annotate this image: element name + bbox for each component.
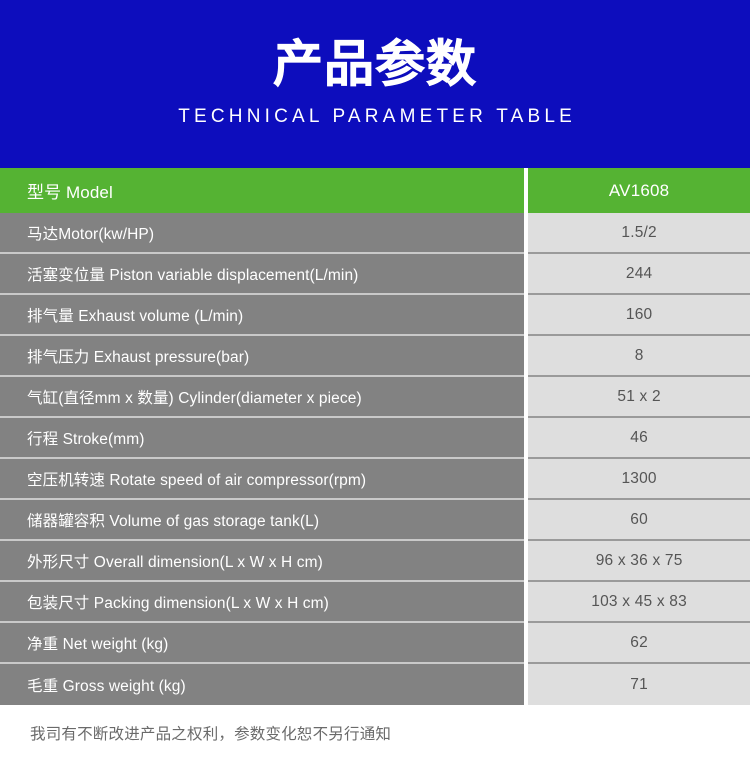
- specification-table: 型号 Model AV1608 马达Motor(kw/HP)1.5/2活塞变位量…: [0, 168, 750, 705]
- table-row: 储器罐容积 Volume of gas storage tank(L)60: [0, 500, 750, 541]
- table-row: 排气压力 Exhaust pressure(bar)8: [0, 336, 750, 377]
- table-cell-label: 排气量 Exhaust volume (L/min): [0, 295, 524, 336]
- table-cell-value: 71: [528, 664, 750, 705]
- table-row: 包装尺寸 Packing dimension(L x W x H cm)103 …: [0, 582, 750, 623]
- table-cell-label: 外形尺寸 Overall dimension(L x W x H cm): [0, 541, 524, 582]
- table-cell-value: 244: [528, 254, 750, 295]
- table-cell-label: 净重 Net weight (kg): [0, 623, 524, 664]
- table-cell-label: 马达Motor(kw/HP): [0, 213, 524, 254]
- footer-note: 我司有不断改进产品之权利，参数变化恕不另行通知: [0, 724, 750, 746]
- table-cell-label: 包装尺寸 Packing dimension(L x W x H cm): [0, 582, 524, 623]
- table-cell-value: 1300: [528, 459, 750, 500]
- table-row: 活塞变位量 Piston variable displacement(L/min…: [0, 254, 750, 295]
- table-row: 毛重 Gross weight (kg)71: [0, 664, 750, 705]
- table-row: 排气量 Exhaust volume (L/min)160: [0, 295, 750, 336]
- table-cell-value: 160: [528, 295, 750, 336]
- table-row: 行程 Stroke(mm)46: [0, 418, 750, 459]
- table-header-label: 型号 Model: [0, 168, 524, 213]
- page-title: 产品参数: [0, 36, 750, 92]
- table-cell-value: 103 x 45 x 83: [528, 582, 750, 623]
- table-cell-value: 96 x 36 x 75: [528, 541, 750, 582]
- table-cell-value: 8: [528, 336, 750, 377]
- table-row: 外形尺寸 Overall dimension(L x W x H cm)96 x…: [0, 541, 750, 582]
- table-cell-value: 51 x 2: [528, 377, 750, 418]
- table-cell-value: 46: [528, 418, 750, 459]
- table-cell-value: 1.5/2: [528, 213, 750, 254]
- table-cell-value: 62: [528, 623, 750, 664]
- table-row: 马达Motor(kw/HP)1.5/2: [0, 213, 750, 254]
- table-cell-label: 排气压力 Exhaust pressure(bar): [0, 336, 524, 377]
- table-cell-value: 60: [528, 500, 750, 541]
- table-row: 净重 Net weight (kg)62: [0, 623, 750, 664]
- table-header-row: 型号 Model AV1608: [0, 168, 750, 213]
- table-cell-label: 气缸(直径mm x 数量) Cylinder(diameter x piece): [0, 377, 524, 418]
- table-body: 马达Motor(kw/HP)1.5/2活塞变位量 Piston variable…: [0, 213, 750, 705]
- table-row: 气缸(直径mm x 数量) Cylinder(diameter x piece)…: [0, 377, 750, 418]
- table-cell-label: 空压机转速 Rotate speed of air compressor(rpm…: [0, 459, 524, 500]
- page-subtitle: TECHNICAL PARAMETER TABLE: [0, 106, 750, 128]
- table-header-value: AV1608: [528, 168, 750, 213]
- table-row: 空压机转速 Rotate speed of air compressor(rpm…: [0, 459, 750, 500]
- table-cell-label: 活塞变位量 Piston variable displacement(L/min…: [0, 254, 524, 295]
- table-cell-label: 行程 Stroke(mm): [0, 418, 524, 459]
- table-cell-label: 毛重 Gross weight (kg): [0, 664, 524, 705]
- table-cell-label: 储器罐容积 Volume of gas storage tank(L): [0, 500, 524, 541]
- page-banner: 产品参数 TECHNICAL PARAMETER TABLE: [0, 0, 750, 168]
